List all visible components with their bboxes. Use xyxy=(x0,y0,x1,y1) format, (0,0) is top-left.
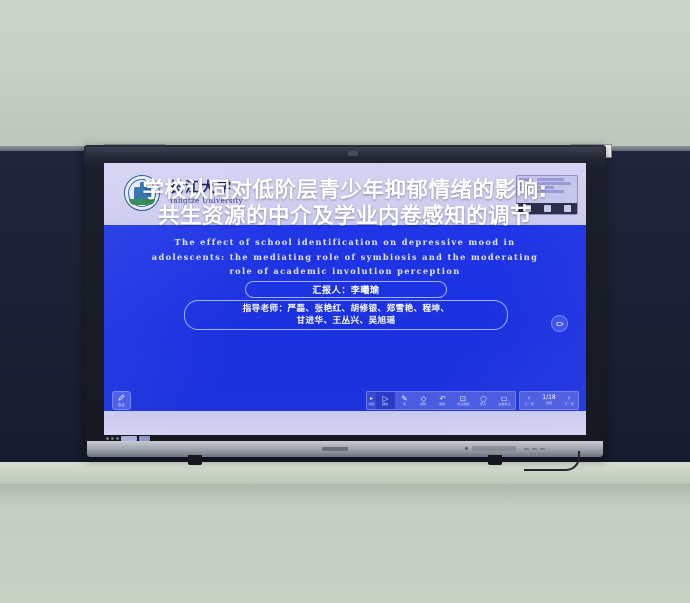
toolbar-tool-undo[interactable]: ↶ 撤销 xyxy=(433,392,452,409)
presentation-slide[interactable]: 长江大学 Yangtze University xyxy=(104,163,586,435)
toolbar-collapse-handle[interactable]: ▸ 收起 xyxy=(367,392,376,409)
toolbar-tool-screenshot[interactable]: ⊡ 批注截图 xyxy=(452,392,474,409)
camera-icon xyxy=(348,151,358,156)
wall-mount-right xyxy=(488,455,502,465)
advisors-line-2: 甘进华、王丛兴、吴旭瑶 xyxy=(297,315,396,327)
prev-page-button[interactable]: ‹ 上一页 xyxy=(521,395,537,406)
toolbar-tool-label: 白板批注 xyxy=(498,403,510,406)
toolbar-tool-whiteboard[interactable]: ▭ 白板批注 xyxy=(493,392,515,409)
wall-mount-left xyxy=(188,455,202,465)
toolbar-tool-label: 批注截图 xyxy=(457,403,469,406)
chevron-right-icon: › xyxy=(568,395,571,402)
display-control-buttons[interactable] xyxy=(524,448,546,450)
reporter-pill: 汇报人：李曦瑜 xyxy=(245,281,447,298)
subtitle-line-3: role of academic involution perception xyxy=(104,264,586,279)
toolbar-tool-play[interactable]: ▷ 播放 xyxy=(376,392,395,409)
title-line-1: 学校认同对低阶层青少年抑郁情绪的影响: xyxy=(104,177,586,204)
wall-shadow xyxy=(0,484,690,510)
toolbar-tool-label: 撤销 xyxy=(439,403,445,406)
next-page-label: 下一页 xyxy=(564,403,574,406)
toolbar-tool-label: 聚光 xyxy=(480,403,486,406)
chevron-left-icon: ‹ xyxy=(528,395,531,402)
floating-assistant-button[interactable] xyxy=(551,315,568,332)
blackboard-left-wing xyxy=(0,151,97,457)
advisors-line-1: 指导老师：严磊、张艳红、胡修银、郑雪艳、程坤、 xyxy=(243,303,450,315)
presentation-toolbar[interactable]: ▸ 收起 ▷ 播放 ✎ 笔 ◇ 擦除 xyxy=(366,391,579,410)
slide-title-cn: 学校认同对低阶层青少年抑郁情绪的影响: 共生资源的中介及学业内卷感知的调节 xyxy=(104,177,586,230)
chevron-right-icon: ▸ xyxy=(370,395,373,402)
display-top-strip xyxy=(86,147,604,159)
wall-ledge xyxy=(0,462,690,484)
title-line-2: 共生资源的中介及学业内卷感知的调节 xyxy=(104,203,586,230)
annotate-pen-label: 批注 xyxy=(118,402,125,407)
toolbar-tool-label: 笔 xyxy=(403,403,406,406)
toolbar-pager-group[interactable]: ‹ 上一页 1/18 页码 › 下一页 xyxy=(519,391,579,410)
toolbar-tool-spotlight[interactable]: ○ 聚光 xyxy=(474,392,493,409)
subtitle-line-1: The effect of school identification on d… xyxy=(104,235,586,250)
subtitle-line-2: adolescents: the mediating role of symbi… xyxy=(104,250,586,265)
toolbar-tool-label: 擦除 xyxy=(420,403,426,406)
toolbar-tool-label: 播放 xyxy=(382,403,388,406)
power-led-icon xyxy=(465,447,468,450)
slide-footer-band xyxy=(104,411,586,435)
toolbar-tool-pen[interactable]: ✎ 笔 xyxy=(395,392,414,409)
toolbar-tools-group[interactable]: ▸ 收起 ▷ 播放 ✎ 笔 ◇ 擦除 xyxy=(366,391,516,410)
toolbar-collapse-label: 收起 xyxy=(368,402,374,406)
display-screen[interactable]: 长江大学 Yangtze University xyxy=(104,163,586,435)
display-brand-logo xyxy=(322,447,348,451)
page-indicator-label: 页码 xyxy=(546,402,552,405)
wall-upper xyxy=(0,0,690,150)
smartboard-display[interactable]: 长江大学 Yangtze University xyxy=(84,145,606,465)
annotate-pen-button[interactable]: 批注 xyxy=(112,391,131,410)
blackboard-right-wing xyxy=(604,151,690,457)
power-cable xyxy=(524,451,580,471)
toolbar-tool-eraser[interactable]: ◇ 擦除 xyxy=(414,392,433,409)
display-model-badge xyxy=(472,446,516,451)
advisors-pill: 指导老师：严磊、张艳红、胡修银、郑雪艳、程坤、 甘进华、王丛兴、吴旭瑶 xyxy=(184,300,508,330)
slide-title-en: The effect of school identification on d… xyxy=(104,235,586,279)
page-indicator: 1/18 页码 xyxy=(537,395,561,405)
next-page-button[interactable]: › 下一页 xyxy=(561,395,577,406)
classroom-scene: 长江大学 Yangtze University xyxy=(0,0,690,603)
prev-page-label: 上一页 xyxy=(524,403,534,406)
